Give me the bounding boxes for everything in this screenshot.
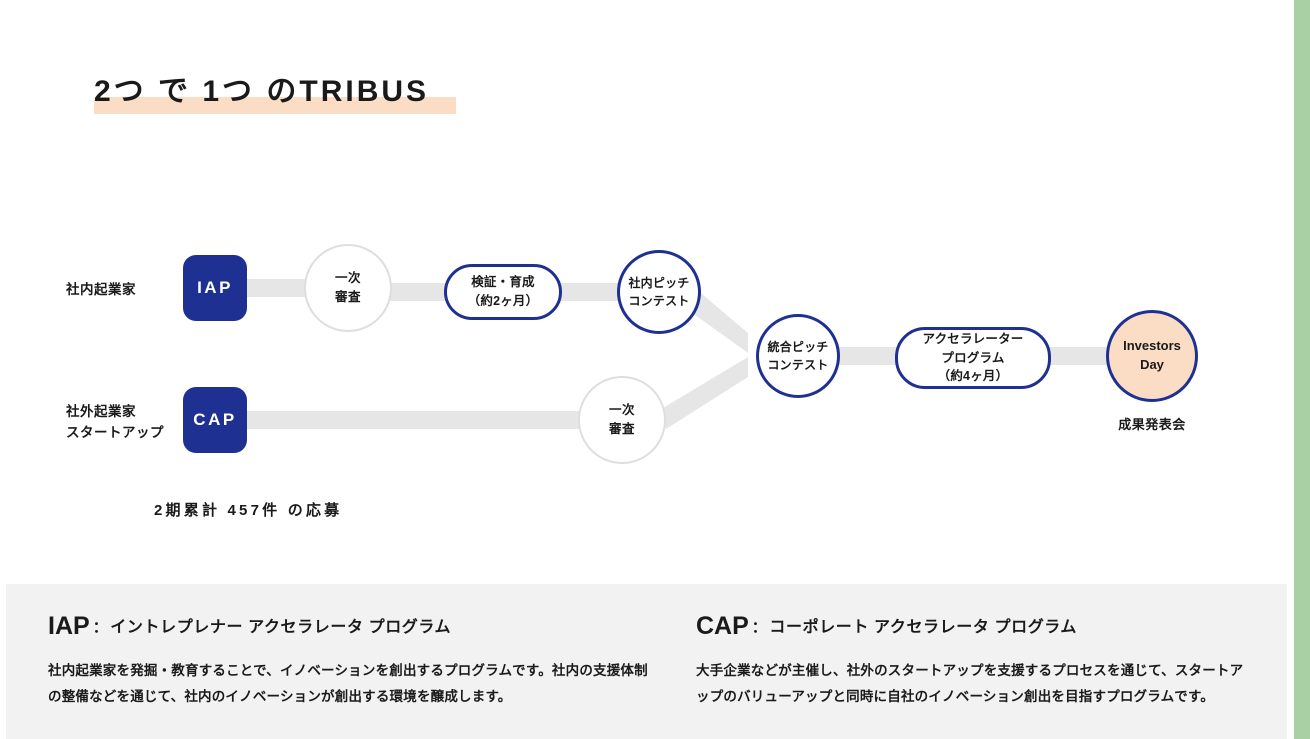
row-label-external-line1: 社外起業家 bbox=[66, 402, 164, 423]
connector-screening-to-joint bbox=[658, 357, 748, 429]
legend-iap-heading: IAP：イントレプレナー アクセラレータ プログラム bbox=[48, 612, 658, 641]
legend-cap-abbr: CAP bbox=[696, 612, 749, 640]
applications-total: 2期累計 457件 の応募 bbox=[154, 499, 342, 520]
legend-iap-fullname: イントレプレナー アクセラレータ プログラム bbox=[110, 619, 451, 636]
node-screening-external-line1: 一次 bbox=[609, 401, 635, 420]
node-joint-pitch-contest[interactable]: 統合ピッチ コンテスト bbox=[756, 314, 840, 398]
row-label-external-line2: スタートアップ bbox=[66, 423, 164, 444]
node-accelerator-line3: （約4ヶ月） bbox=[923, 367, 1024, 386]
right-green-band bbox=[1294, 0, 1310, 739]
connector-joint-to-accelerator bbox=[836, 347, 898, 365]
node-iap-label: IAP bbox=[197, 278, 233, 298]
node-screening-internal-line1: 一次 bbox=[335, 269, 361, 288]
node-cap[interactable]: CAP bbox=[183, 387, 247, 453]
process-flow-diagram: 社内起業家 社外起業家 スタートアップ IAP 一次 審査 検証・育成 bbox=[6, 7, 1287, 584]
node-screening-external[interactable]: 一次 審査 bbox=[578, 376, 666, 464]
node-accelerator-line1: アクセラレーター bbox=[923, 330, 1024, 349]
left-margin bbox=[0, 0, 6, 739]
node-screening-internal-line2: 審査 bbox=[335, 288, 361, 307]
node-investors-day-line2: Day bbox=[1123, 356, 1181, 375]
legend-iap: IAP：イントレプレナー アクセラレータ プログラム 社内起業家を発掘・教育する… bbox=[48, 612, 658, 711]
node-iap[interactable]: IAP bbox=[183, 255, 247, 321]
top-margin bbox=[0, 0, 1310, 7]
node-internal-pitch-line1: 社内ピッチ bbox=[628, 274, 689, 292]
slide-canvas: 2つ で 1つ のTRIBUS bbox=[6, 7, 1287, 584]
node-joint-pitch-line2: コンテスト bbox=[767, 356, 828, 374]
node-screening-internal[interactable]: 一次 審査 bbox=[304, 244, 392, 332]
legend-iap-abbr: IAP bbox=[48, 612, 90, 640]
node-accelerator-program[interactable]: アクセラレーター プログラム （約4ヶ月） bbox=[895, 327, 1051, 389]
node-cap-label: CAP bbox=[193, 410, 236, 430]
legend-cap-heading: CAP：コーポレート アクセラレータ プログラム bbox=[696, 612, 1256, 641]
node-validation[interactable]: 検証・育成 （約2ヶ月） bbox=[444, 264, 562, 320]
legend-iap-description: 社内起業家を発掘・教育することで、イノベーションを創出するプログラムです。社内の… bbox=[48, 658, 658, 711]
legend-cap-fullname: コーポレート アクセラレータ プログラム bbox=[769, 619, 1077, 636]
row-label-external: 社外起業家 スタートアップ bbox=[66, 402, 164, 444]
row-label-internal: 社内起業家 bbox=[66, 280, 136, 301]
node-validation-line1: 検証・育成 bbox=[468, 273, 539, 292]
legend-iap-separator: ： bbox=[90, 619, 111, 636]
row-label-internal-text: 社内起業家 bbox=[66, 282, 136, 297]
legend-cap: CAP：コーポレート アクセラレータ プログラム 大手企業などが主催し、社外のス… bbox=[696, 612, 1256, 711]
node-joint-pitch-line1: 統合ピッチ bbox=[767, 338, 828, 356]
node-internal-pitch-contest[interactable]: 社内ピッチ コンテスト bbox=[617, 250, 701, 334]
node-investors-day[interactable]: Investors Day bbox=[1106, 310, 1198, 402]
connector-validation-to-pitch bbox=[558, 283, 620, 301]
connector-cap-to-screening bbox=[242, 411, 580, 429]
node-validation-line2: （約2ヶ月） bbox=[468, 292, 539, 311]
legend-cap-description: 大手企業などが主催し、社外のスタートアップを支援するプロセスを通じて、スタートア… bbox=[696, 658, 1256, 711]
caption-investors-day: 成果発表会 bbox=[1091, 414, 1213, 433]
legend-cap-separator: ： bbox=[749, 619, 770, 636]
node-investors-day-line1: Investors bbox=[1123, 337, 1181, 356]
legend-panel: IAP：イントレプレナー アクセラレータ プログラム 社内起業家を発掘・教育する… bbox=[6, 584, 1287, 739]
connector-iap-to-screening bbox=[242, 279, 308, 297]
node-internal-pitch-line2: コンテスト bbox=[628, 292, 689, 310]
right-margin bbox=[1287, 0, 1294, 739]
node-screening-external-line2: 審査 bbox=[609, 420, 635, 439]
connector-accelerator-to-investorsday bbox=[1046, 347, 1110, 365]
node-accelerator-line2: プログラム bbox=[923, 349, 1024, 368]
slide-root: 2つ で 1つ のTRIBUS bbox=[0, 0, 1310, 739]
